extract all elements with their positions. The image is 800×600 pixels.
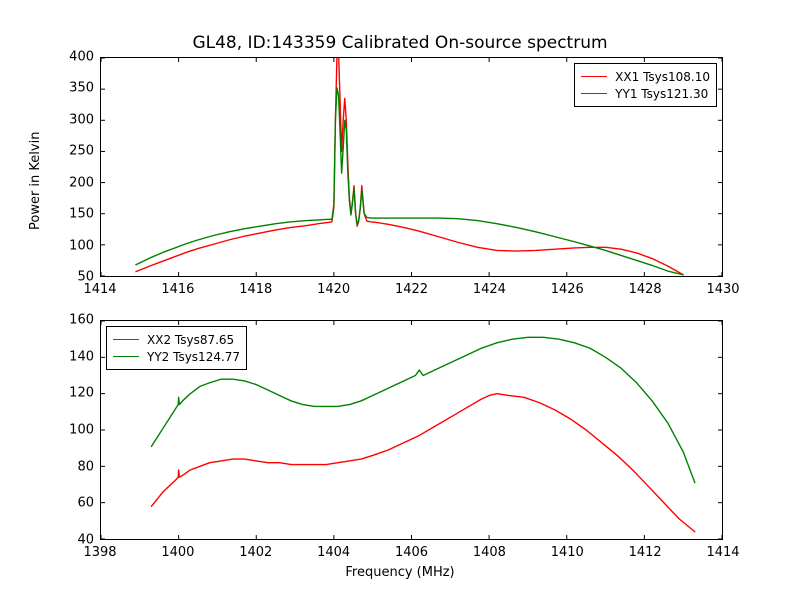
y-tick-label-bottom-3: 100: [42, 423, 94, 438]
y-tick-label-bottom-6: 160: [42, 313, 94, 328]
legend-entry-bottom-1: YY2 Tsys124.77: [113, 348, 240, 365]
y-tick-label-bottom-1: 60: [42, 496, 94, 511]
y-tick-label-top-5: 300: [42, 112, 94, 127]
legend-entry-label: YY1 Tsys121.30: [615, 87, 708, 101]
legend-color-swatch-icon: [113, 356, 139, 357]
legend-entry-label: YY2 Tsys124.77: [147, 350, 240, 364]
x-tick-label-top-8: 1430: [706, 282, 739, 297]
legend-color-swatch-icon: [113, 339, 139, 340]
x-tick-label-top-3: 1420: [317, 282, 350, 297]
top-panel-axes: XX1 Tsys108.10YY1 Tsys121.30: [100, 57, 723, 277]
legend-color-swatch-icon: [581, 93, 607, 94]
y-tick-label-bottom-0: 40: [42, 533, 94, 548]
y-tick-label-bottom-4: 120: [42, 386, 94, 401]
x-tick-label-bottom-6: 1410: [551, 545, 584, 560]
legend-color-swatch-icon: [581, 76, 607, 77]
x-tick-label-top-2: 1418: [239, 282, 272, 297]
x-tick-label-bottom-7: 1412: [629, 545, 662, 560]
legend-entry-label: XX1 Tsys108.10: [615, 70, 710, 84]
bottom-panel-x-axis-label: Frequency (MHz): [0, 565, 800, 580]
y-tick-label-bottom-2: 80: [42, 459, 94, 474]
y-tick-label-top-7: 400: [42, 50, 94, 65]
x-tick-label-top-5: 1424: [473, 282, 506, 297]
x-tick-label-bottom-3: 1404: [317, 545, 350, 560]
y-tick-label-top-1: 100: [42, 238, 94, 253]
legend-entry-top-1: YY1 Tsys121.30: [581, 85, 710, 102]
y-tick-label-top-2: 150: [42, 207, 94, 222]
top-panel-legend: XX1 Tsys108.10YY1 Tsys121.30: [574, 63, 717, 107]
bottom-panel-axes: XX2 Tsys87.65YY2 Tsys124.77: [100, 320, 723, 540]
y-tick-label-bottom-5: 140: [42, 349, 94, 364]
y-tick-label-top-3: 200: [42, 175, 94, 190]
x-tick-label-top-7: 1428: [629, 282, 662, 297]
x-tick-label-top-4: 1422: [395, 282, 428, 297]
x-tick-label-bottom-1: 1400: [161, 545, 194, 560]
figure-title: GL48, ID:143359 Calibrated On-source spe…: [0, 33, 800, 53]
series-line-bottom-0: [151, 394, 694, 532]
legend-entry-bottom-0: XX2 Tsys87.65: [113, 331, 240, 348]
figure-canvas: GL48, ID:143359 Calibrated On-source spe…: [0, 0, 800, 600]
y-tick-label-top-4: 250: [42, 144, 94, 159]
legend-entry-label: XX2 Tsys87.65: [147, 333, 234, 347]
x-tick-label-bottom-8: 1414: [706, 545, 739, 560]
x-tick-label-bottom-5: 1408: [473, 545, 506, 560]
x-tick-label-bottom-2: 1402: [239, 545, 272, 560]
legend-entry-top-0: XX1 Tsys108.10: [581, 68, 710, 85]
bottom-panel-legend: XX2 Tsys87.65YY2 Tsys124.77: [106, 326, 247, 370]
x-tick-label-top-1: 1416: [161, 282, 194, 297]
x-tick-label-bottom-4: 1406: [395, 545, 428, 560]
top-panel-y-axis-label: Power in Kelvin: [28, 132, 43, 230]
y-tick-label-top-6: 350: [42, 81, 94, 96]
y-tick-label-top-0: 50: [42, 270, 94, 285]
x-tick-label-top-6: 1426: [551, 282, 584, 297]
